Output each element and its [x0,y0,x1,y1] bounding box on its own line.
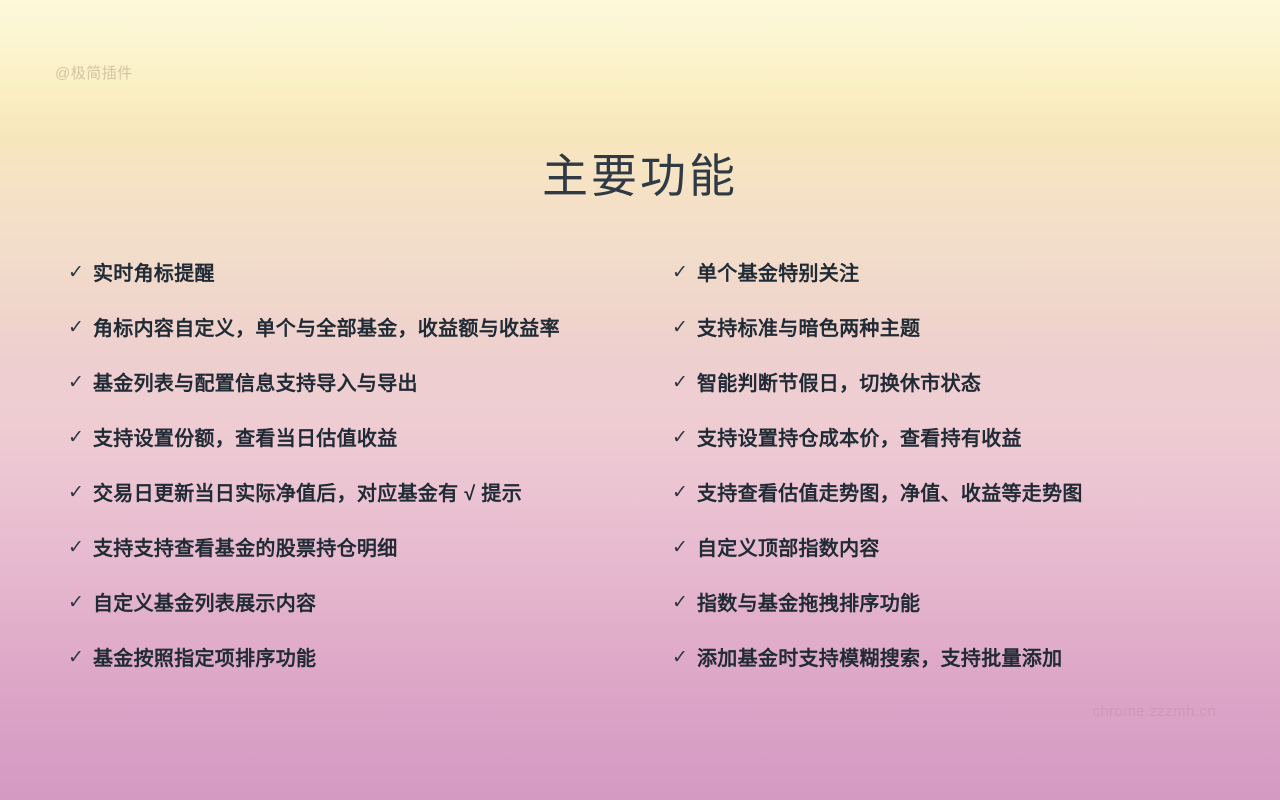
feature-column-left: ✓ 实时角标提醒 ✓ 角标内容自定义，单个与全部基金，收益额与收益率 ✓ 基金列… [68,246,648,686]
check-icon: ✓ [68,263,93,282]
feature-label: 支持设置份额，查看当日估值收益 [93,426,398,452]
check-icon: ✓ [68,648,93,667]
feature-label: 角标内容自定义，单个与全部基金，收益额与收益率 [93,316,560,342]
feature-label: 支持标准与暗色两种主题 [697,316,920,342]
feature-label: 自定义基金列表展示内容 [93,591,316,617]
feature-label: 交易日更新当日实际净值后，对应基金有 √ 提示 [93,481,522,507]
feature-item: ✓ 角标内容自定义，单个与全部基金，收益额与收益率 [68,301,648,356]
check-icon: ✓ [68,318,93,337]
feature-item: ✓ 自定义基金列表展示内容 [68,576,648,631]
feature-item: ✓ 智能判断节假日，切换休市状态 [672,356,1242,411]
check-icon: ✓ [68,538,93,557]
watermark-bottom-right: chrome.zzzmh.cn [1092,703,1216,720]
check-icon: ✓ [672,373,697,392]
page-title: 主要功能 [0,150,1280,203]
check-icon: ✓ [672,538,697,557]
feature-item: ✓ 实时角标提醒 [68,246,648,301]
feature-item: ✓ 基金列表与配置信息支持导入与导出 [68,356,648,411]
check-icon: ✓ [672,263,697,282]
check-icon: ✓ [672,318,697,337]
check-icon: ✓ [672,648,697,667]
check-icon: ✓ [68,373,93,392]
feature-slide: @极简插件 主要功能 ✓ 实时角标提醒 ✓ 角标内容自定义，单个与全部基金，收益… [0,0,1280,800]
feature-item: ✓ 支持查看估值走势图，净值、收益等走势图 [672,466,1242,521]
watermark-top-left: @极简插件 [55,62,133,83]
feature-item: ✓ 添加基金时支持模糊搜索，支持批量添加 [672,631,1242,686]
feature-label: 基金按照指定项排序功能 [93,646,316,672]
feature-label: 支持支持查看基金的股票持仓明细 [93,536,398,562]
check-icon: ✓ [672,593,697,612]
feature-item: ✓ 自定义顶部指数内容 [672,521,1242,576]
feature-label: 自定义顶部指数内容 [697,536,880,562]
feature-item: ✓ 支持支持查看基金的股票持仓明细 [68,521,648,576]
feature-label: 添加基金时支持模糊搜索，支持批量添加 [697,646,1062,672]
feature-label: 基金列表与配置信息支持导入与导出 [93,371,418,397]
feature-item: ✓ 支持设置份额，查看当日估值收益 [68,411,648,466]
feature-label: 实时角标提醒 [93,261,215,287]
feature-label: 指数与基金拖拽排序功能 [697,591,920,617]
feature-label: 支持设置持仓成本价，查看持有收益 [697,426,1022,452]
check-icon: ✓ [68,428,93,447]
check-icon: ✓ [672,428,697,447]
feature-item: ✓ 基金按照指定项排序功能 [68,631,648,686]
check-icon: ✓ [672,483,697,502]
feature-item: ✓ 支持标准与暗色两种主题 [672,301,1242,356]
feature-label: 单个基金特别关注 [697,261,859,287]
feature-label: 智能判断节假日，切换休市状态 [697,371,981,397]
feature-column-right: ✓ 单个基金特别关注 ✓ 支持标准与暗色两种主题 ✓ 智能判断节假日，切换休市状… [672,246,1242,686]
feature-item: ✓ 单个基金特别关注 [672,246,1242,301]
feature-label: 支持查看估值走势图，净值、收益等走势图 [697,481,1083,507]
check-icon: ✓ [68,593,93,612]
check-icon: ✓ [68,483,93,502]
feature-item: ✓ 指数与基金拖拽排序功能 [672,576,1242,631]
feature-item: ✓ 支持设置持仓成本价，查看持有收益 [672,411,1242,466]
feature-item: ✓ 交易日更新当日实际净值后，对应基金有 √ 提示 [68,466,648,521]
